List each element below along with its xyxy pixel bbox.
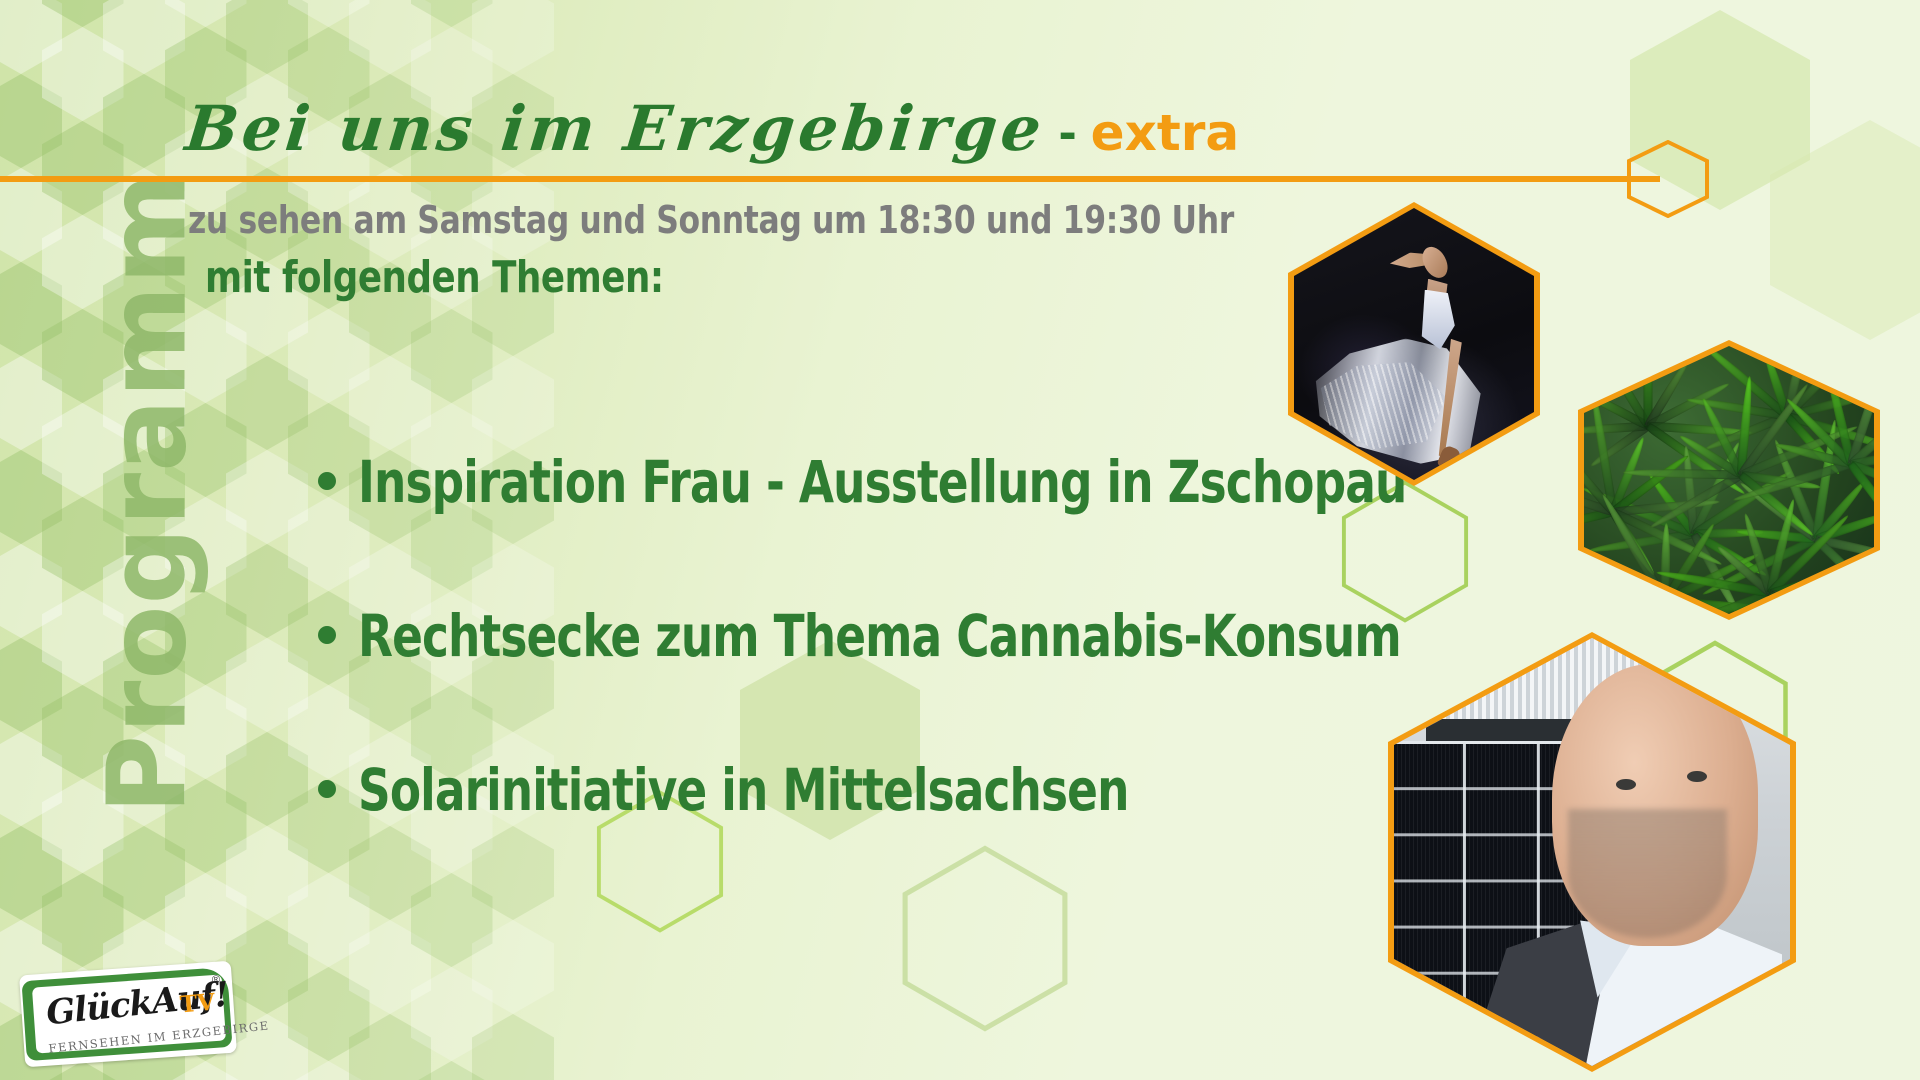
topic-text: Rechtsecke zum Thema Cannabis-Konsum — [358, 602, 1401, 670]
solar-interview-photo — [1394, 638, 1790, 1066]
glueckauf-tv-logo: GlückAuf! TV ® FERNSEHEN IM ERZGEBIRGE — [22, 968, 234, 1060]
orange-hexagon-outline-icon — [1626, 140, 1710, 218]
topic-text: Solarinitiative in Mittelsachsen — [358, 756, 1129, 824]
title-dash: - — [1059, 101, 1077, 163]
decorative-hexagon — [1770, 120, 1920, 340]
bullet-dot-icon — [318, 780, 336, 798]
dancer-artwork — [1294, 208, 1534, 480]
hexagon-image-clip — [1394, 638, 1790, 1066]
title-extra-badge: extra — [1091, 104, 1239, 162]
vertical-programm-watermark: Programm — [86, 143, 211, 843]
bullet-dot-icon — [318, 626, 336, 644]
hexagon-image-clip — [1294, 208, 1534, 480]
title-script-text: Bei uns im Erzgebirge — [182, 92, 1048, 165]
logo-registered-icon: ® — [211, 974, 220, 987]
list-item: Inspiration Frau - Ausstellung in Zschop… — [318, 448, 1378, 516]
orange-divider-rule — [0, 176, 1660, 182]
cannabis-artwork — [1584, 346, 1874, 614]
show-title: Bei uns im Erzgebirge - extra — [186, 92, 1239, 165]
topics-intro-label: mit folgenden Themen: — [205, 252, 664, 303]
list-item: Solarinitiative in Mittelsachsen — [318, 756, 1378, 824]
broadcast-times-subtitle: zu sehen am Samstag und Sonntag um 18:30… — [188, 198, 1234, 242]
topics-list: Inspiration Frau - Ausstellung in Zschop… — [318, 448, 1378, 910]
hexagon-image-clip — [1584, 346, 1874, 614]
photo-hexagon-dancer — [1288, 202, 1540, 486]
logo-tv-mark: TV — [179, 989, 216, 1019]
broadcast-program-slide: Programm Bei uns im Erzgebirge - extra z… — [0, 0, 1920, 1080]
photo-hexagon-solar — [1388, 632, 1796, 1072]
photo-hexagon-cannabis — [1578, 340, 1880, 620]
list-item: Rechtsecke zum Thema Cannabis-Konsum — [318, 602, 1378, 670]
topic-text: Inspiration Frau - Ausstellung in Zschop… — [358, 448, 1406, 516]
bullet-dot-icon — [318, 472, 336, 490]
